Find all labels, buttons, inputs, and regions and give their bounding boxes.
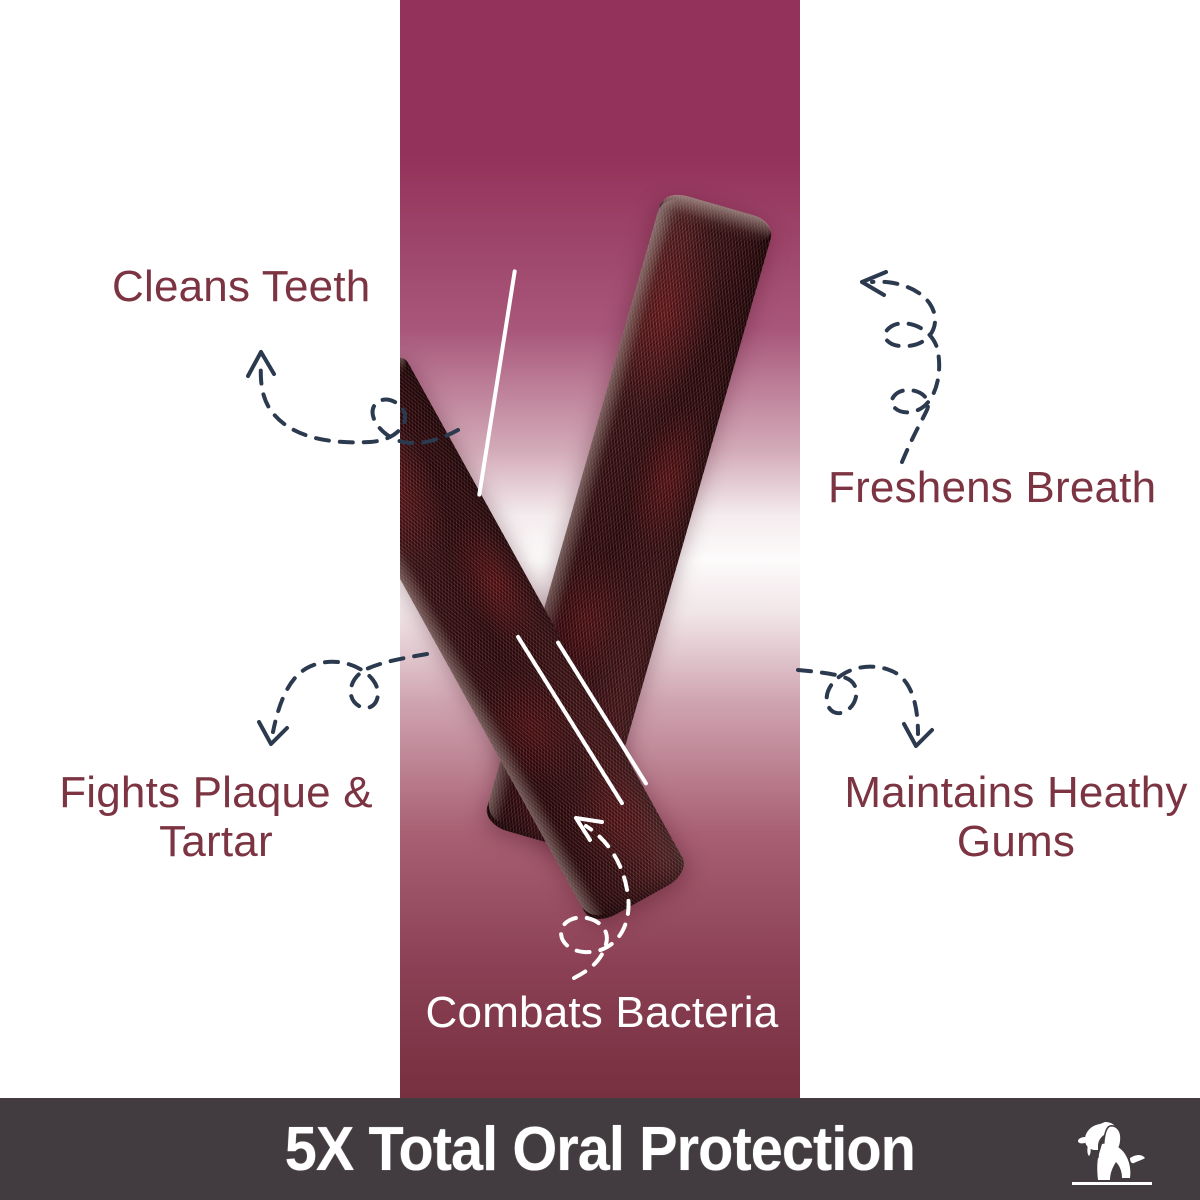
sitting-dog-icon (1072, 1106, 1152, 1192)
bottom-banner: 5X Total Oral Protection (0, 1098, 1200, 1200)
feature-label-combats-bacteria: Combats Bacteria (412, 988, 792, 1037)
product-image-area (400, 0, 800, 1098)
banner-title: 5X Total Oral Protection (285, 1114, 915, 1185)
feature-label-fights-plaque-tartar: Fights Plaque & Tartar (42, 768, 390, 867)
feature-label-freshens-breath: Freshens Breath (828, 463, 1156, 512)
feature-label-maintains-healthy-gums: Maintains Heathy Gums (826, 768, 1200, 867)
maintains-gums-arrow-icon (796, 648, 976, 766)
chew-end-cap (400, 349, 411, 424)
freshens-breath-arrow-icon (846, 252, 976, 467)
feature-label-cleans-teeth: Cleans Teeth (112, 262, 370, 311)
product-infographic-poster: Cleans Teeth Freshens Breath Fights Plaq… (0, 0, 1200, 1200)
